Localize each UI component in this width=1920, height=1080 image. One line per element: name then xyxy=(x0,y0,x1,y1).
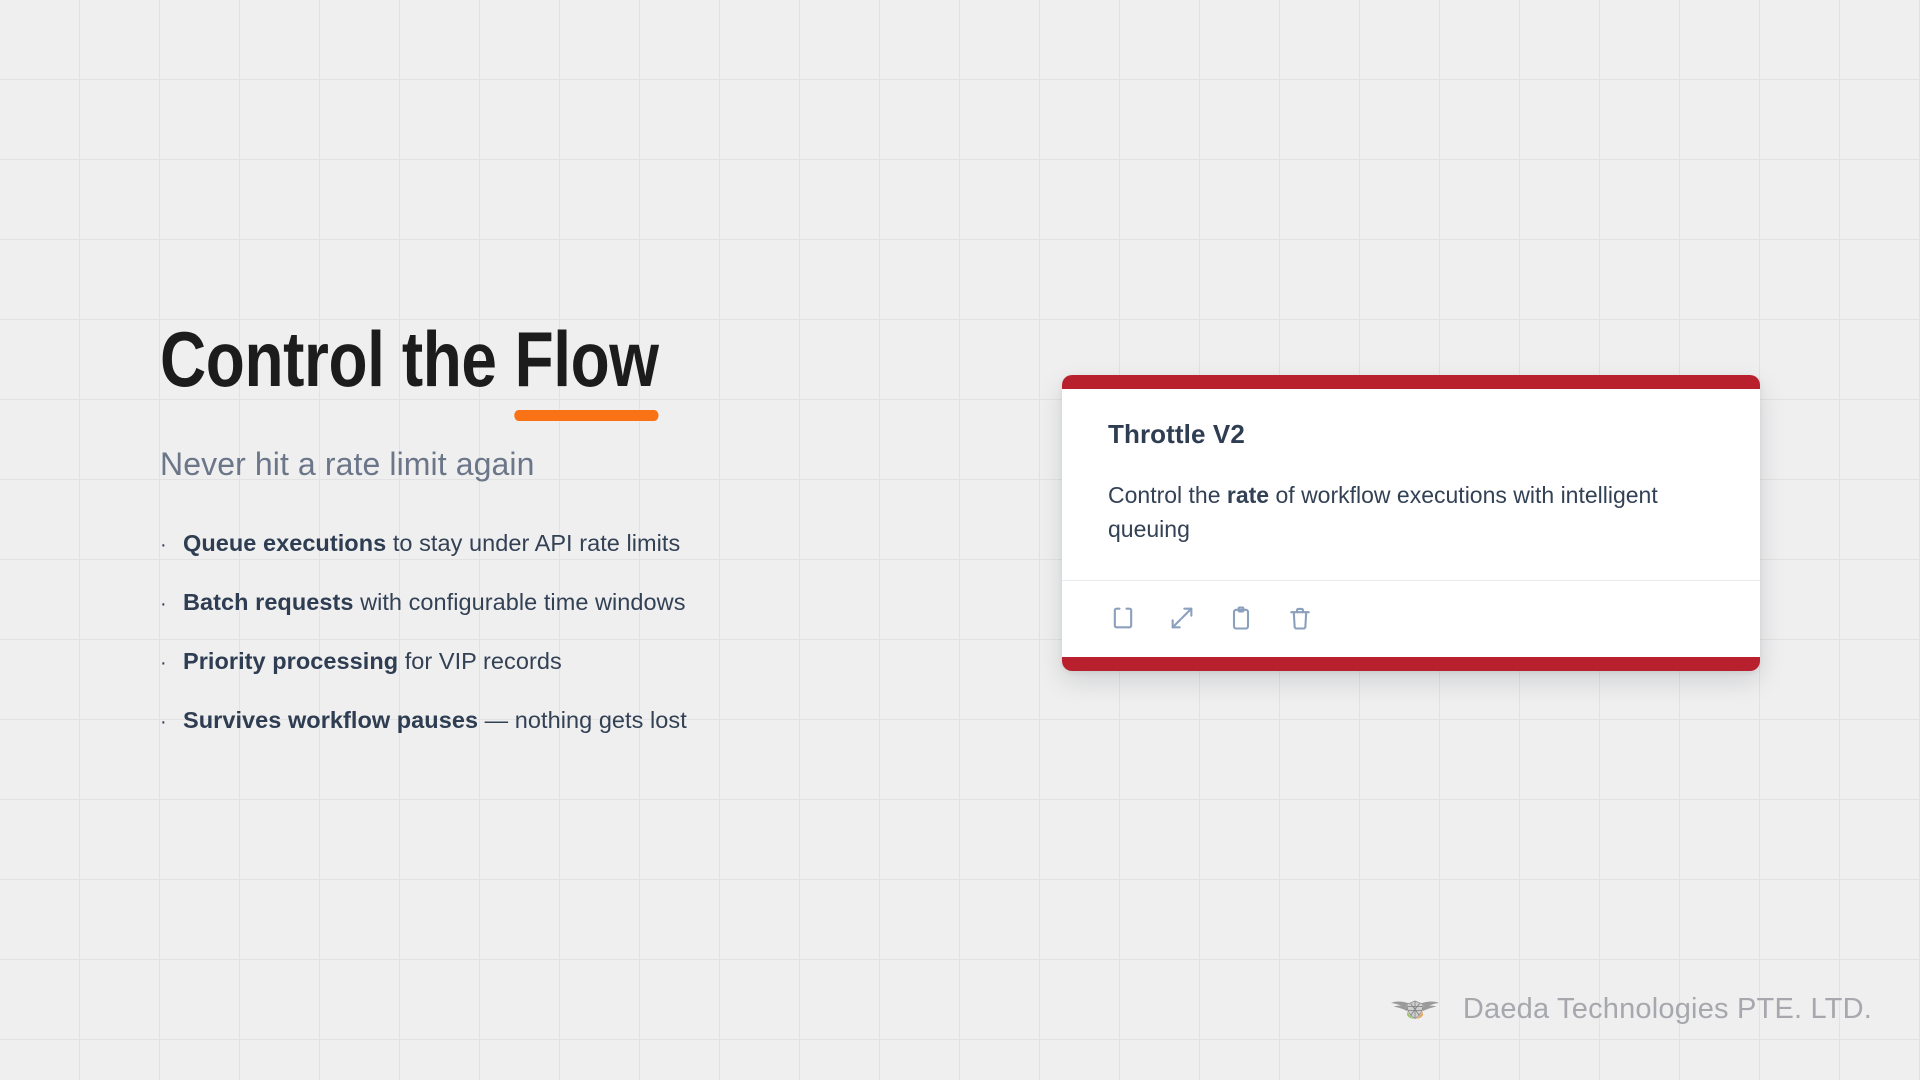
list-item: · Survives workflow pauses — nothing get… xyxy=(160,707,1000,734)
feature-bullet-list: · Queue executions to stay under API rat… xyxy=(160,530,1000,734)
brand-name: Daeda Technologies PTE. LTD. xyxy=(1463,993,1872,1026)
card-description-before: Control the xyxy=(1108,482,1227,508)
bullet-marker-icon: · xyxy=(160,653,183,673)
bullet-marker-icon: · xyxy=(160,712,183,732)
brand-footer: Daeda Technologies PTE. LTD. xyxy=(1389,992,1872,1026)
bullet-strong-label: Survives workflow pauses xyxy=(183,707,478,733)
card-body: Throttle V2 Control the rate of workflow… xyxy=(1062,389,1760,580)
card-title: Throttle V2 xyxy=(1108,419,1714,450)
card-accent-bar-top xyxy=(1062,375,1760,389)
card-description-strong: rate xyxy=(1227,482,1269,508)
expand-icon[interactable] xyxy=(1167,603,1197,633)
list-item: · Batch requests with configurable time … xyxy=(160,589,1000,616)
note-icon[interactable] xyxy=(1108,603,1138,633)
page-title-lead: Control the xyxy=(160,315,497,403)
bullet-strong-label: Queue executions xyxy=(183,530,386,556)
list-item: · Priority processing for VIP records xyxy=(160,648,1000,675)
left-content-column: Control theFlow Never hit a rate limit a… xyxy=(160,320,1000,766)
winged-crest-logo-icon xyxy=(1389,992,1441,1026)
bullet-text: Batch requests with configurable time wi… xyxy=(183,589,686,616)
slide-canvas: Control theFlow Never hit a rate limit a… xyxy=(0,0,1920,1080)
card-accent-bar-bottom xyxy=(1062,657,1760,671)
page-subtitle: Never hit a rate limit again xyxy=(160,446,1000,483)
bullet-text: Survives workflow pauses — nothing gets … xyxy=(183,707,687,734)
title-underline xyxy=(515,410,659,421)
bullet-rest-label: — nothing gets lost xyxy=(478,707,687,733)
list-item: · Queue executions to stay under API rat… xyxy=(160,530,1000,557)
bullet-text: Queue executions to stay under API rate … xyxy=(183,530,680,557)
page-title-accent: Flow xyxy=(515,315,659,403)
bullet-rest-label: to stay under API rate limits xyxy=(386,530,680,556)
bullet-text: Priority processing for VIP records xyxy=(183,648,562,675)
page-title: Control theFlow xyxy=(160,320,849,398)
clipboard-icon[interactable] xyxy=(1226,603,1256,633)
bullet-strong-label: Priority processing xyxy=(183,648,398,674)
card-description: Control the rate of workflow executions … xyxy=(1108,478,1668,546)
bullet-rest-label: with configurable time windows xyxy=(353,589,685,615)
feature-card[interactable]: Throttle V2 Control the rate of workflow… xyxy=(1062,375,1760,671)
bullet-rest-label: for VIP records xyxy=(398,648,562,674)
page-title-accent-text: Flow xyxy=(515,315,659,403)
bullet-strong-label: Batch requests xyxy=(183,589,353,615)
trash-icon[interactable] xyxy=(1285,603,1315,633)
bullet-marker-icon: · xyxy=(160,594,183,614)
card-footer-actions xyxy=(1062,580,1760,657)
bullet-marker-icon: · xyxy=(160,535,183,555)
